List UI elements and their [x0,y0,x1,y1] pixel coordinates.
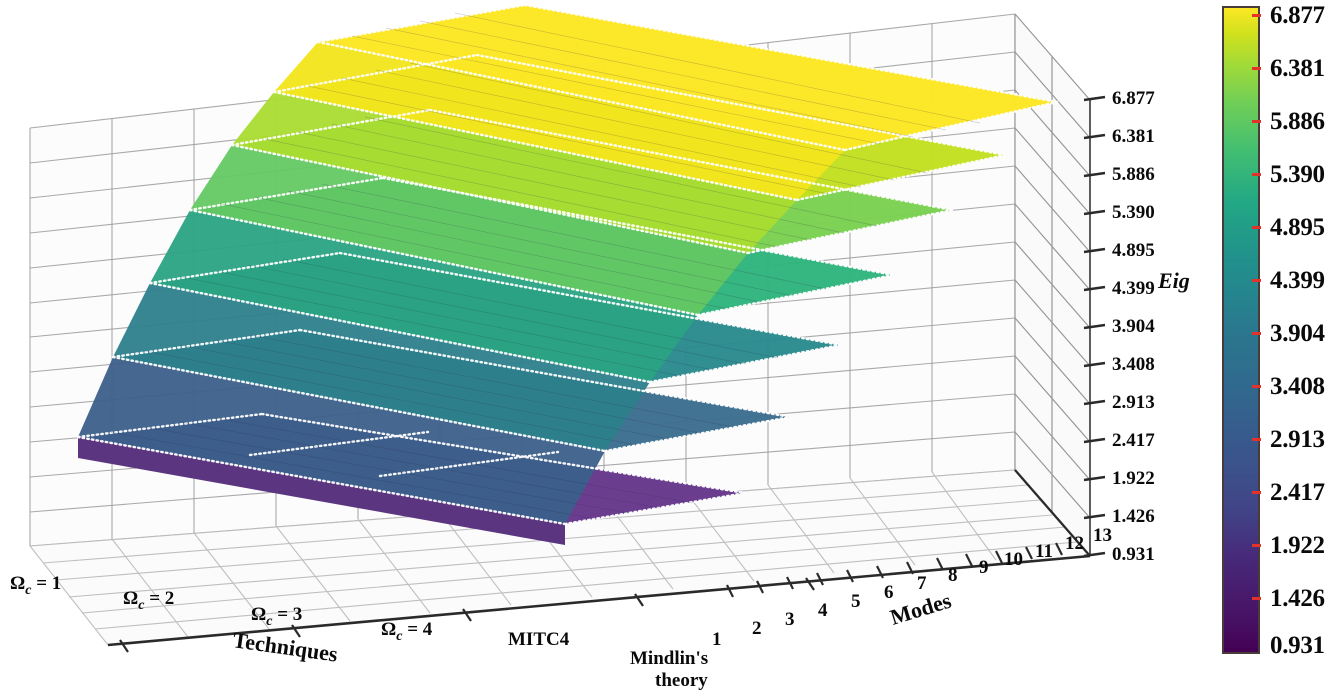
techniques-tick-label: Ωc = 1 [10,573,61,598]
colorbar-label: 5.390 [1270,161,1325,189]
techniques-axis-title: Techniques [231,627,339,667]
modes-tick-label: 3 [785,609,795,630]
z-tick-label: 5.886 [1112,164,1155,185]
colorbar-tick [1252,544,1261,547]
chart-canvas: 6.877 6.381 5.886 5.390 4.895 4.399 3.90… [0,0,1335,696]
colorbar-tick [1252,597,1261,600]
colorbar-label: 6.877 [1270,2,1325,30]
z-tick-label: 1.922 [1112,468,1155,489]
colorbar[interactable]: 6.877 6.381 5.886 5.390 4.895 4.399 3.90… [1222,6,1335,658]
modes-tick-label: 7 [917,573,927,594]
techniques-tick-label: Mindlin's [630,648,708,669]
z-tick-label: 0.931 [1112,544,1155,565]
colorbar-tick [1252,67,1261,70]
modes-tick-label: 5 [851,591,861,612]
techniques-tick-label: Ωc = 4 [381,619,433,644]
colorbar-tick [1252,385,1261,388]
colorbar-label: 2.417 [1270,479,1325,507]
z-tick-label: 5.390 [1112,202,1155,223]
modes-tick-label: 1 [712,629,722,650]
z-tick-label: 2.417 [1112,430,1155,451]
techniques-tick-label: MITC4 [508,629,570,650]
z-tick-label: 6.381 [1112,126,1155,147]
surface-3d-plot: 6.877 6.381 5.886 5.390 4.895 4.399 3.90… [0,0,1335,696]
colorbar-label: 1.922 [1270,532,1325,560]
colorbar-label: 3.408 [1270,373,1325,401]
modes-tick-label: 2 [752,618,762,639]
colorbar-label: 4.399 [1270,267,1325,295]
modes-tick-label: 12 [1065,533,1084,554]
colorbar-label: 5.886 [1270,108,1325,136]
colorbar-label: 2.913 [1270,426,1325,454]
modes-tick-label: 6 [884,582,894,603]
z-tick-label: 6.877 [1112,88,1155,109]
colorbar-label: 0.931 [1270,632,1325,660]
colorbar-tick [1252,438,1261,441]
z-tick-label: 2.913 [1112,392,1155,413]
z-axis-title: Eig [1157,268,1190,293]
colorbar-label: 6.381 [1270,55,1325,83]
z-tick-label: 3.408 [1112,354,1155,375]
colorbar-tick [1252,173,1261,176]
z-tick-label: 4.399 [1112,278,1155,299]
colorbar-tick [1252,332,1261,335]
modes-tick-label: 11 [1035,541,1053,562]
modes-tick-label: 4 [818,600,828,621]
z-tick-label: 1.426 [1112,506,1155,527]
colorbar-tick [1252,279,1261,282]
modes-tick-label: 8 [948,565,958,586]
z-tick-labels: 6.877 6.381 5.886 5.390 4.895 4.399 3.90… [1112,88,1155,565]
modes-tick-label: 10 [1004,549,1023,570]
colorbar-label: 3.904 [1270,320,1325,348]
modes-tick-label: 13 [1093,525,1112,546]
techniques-tick-label-line2: theory [655,670,708,691]
colorbar-gradient [1222,6,1260,654]
colorbar-tick [1252,226,1261,229]
z-tick-label: 4.895 [1112,240,1155,261]
colorbar-tick [1252,120,1261,123]
colorbar-tick [1252,14,1261,17]
colorbar-label: 4.895 [1270,214,1325,242]
colorbar-label: 1.426 [1270,585,1325,613]
colorbar-tick [1252,491,1261,494]
modes-tick-label: 9 [979,557,989,578]
z-tick-label: 3.904 [1112,316,1155,337]
